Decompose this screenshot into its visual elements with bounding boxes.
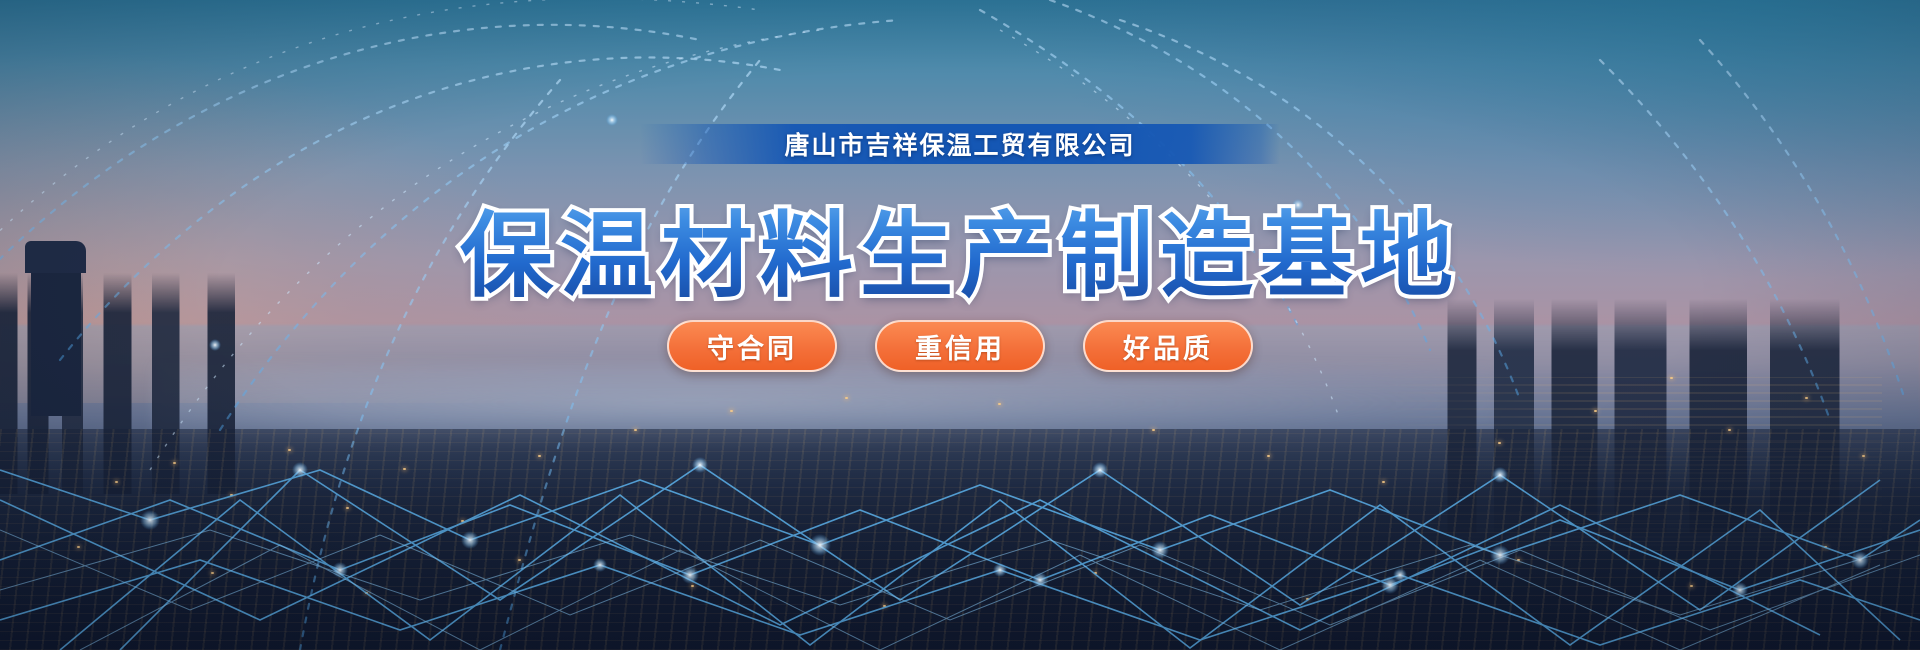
badge-shou-he-tong[interactable]: 守合同: [667, 320, 837, 372]
headline-wrapper: 保温材料生产制造基地 保温材料生产制造基地: [460, 180, 1460, 292]
hero-banner: 唐山市吉祥保温工贸有限公司 保温材料生产制造基地 保温材料生产制造基地 守合同 …: [0, 0, 1920, 650]
company-name: 唐山市吉祥保温工贸有限公司: [784, 126, 1135, 162]
headline-title: 保温材料生产制造基地: [460, 180, 1460, 315]
badge-label: 守合同: [707, 327, 797, 366]
badge-label: 好品质: [1123, 327, 1213, 366]
badge-label: 重信用: [915, 327, 1005, 366]
badge-row: 守合同 重信用 好品质: [667, 320, 1253, 372]
banner-content: 唐山市吉祥保温工贸有限公司 保温材料生产制造基地 保温材料生产制造基地 守合同 …: [0, 0, 1920, 650]
badge-hao-pin-zhi[interactable]: 好品质: [1083, 320, 1253, 372]
badge-zhong-xin-yong[interactable]: 重信用: [875, 320, 1045, 372]
company-name-band: 唐山市吉祥保温工贸有限公司: [640, 124, 1280, 164]
